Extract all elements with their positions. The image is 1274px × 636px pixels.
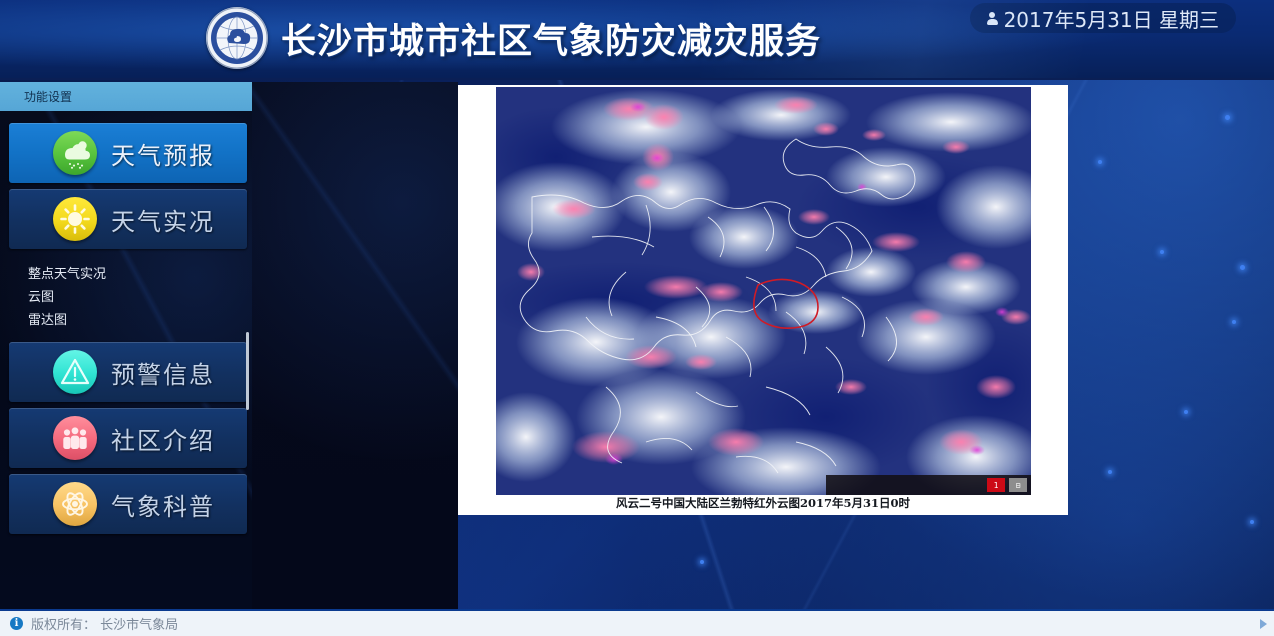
date-text: 2017年5月31日 星期三 [1004,4,1219,33]
brand: 长沙市城市社区气象防灾减灾服务 [206,7,821,69]
atom-icon [53,482,97,526]
sidebar-item-label: 天气预报 [111,136,215,171]
sidebar-nav: 天气预报 天气实况 [0,111,252,534]
sidebar-item-label: 天气实况 [111,202,215,237]
date-badge: 2017年5月31日 星期三 [970,3,1236,33]
sidebar-item-label: 气象科普 [111,487,215,522]
app-footer: i 版权所有： 长沙市气象局 [0,609,1274,636]
submenu-item-radar-map[interactable]: 雷达图 [28,309,252,332]
sidebar-panel-title: 功能设置 [0,88,72,105]
sidebar-panel-header: 功能设置 [0,82,252,111]
page-title: 长沙市城市社区气象防灾减灾服务 [281,13,821,64]
sidebar-submenu: 整点天气实况 云图 雷达图 [0,263,252,332]
image-caption: 风云二号中国大陆区兰勃特红外云图2017年5月31日0时 [458,495,1068,511]
sidebar-item-meteorology-science[interactable]: 气象科普 [9,474,247,534]
sidebar: 功能设置 天气预报 [0,82,252,609]
image-card: 1 ⊟ 风云二号中国大陆区兰勃特红外云图2017年5月31日0时 [458,85,1068,515]
info-icon: i [10,617,23,630]
sidebar-item-community-intro[interactable]: 社区介绍 [9,408,247,468]
app-root: 长沙市城市社区气象防灾减灾服务 2017年5月31日 星期三 功能设置 [0,0,1274,636]
main-content: 1 ⊟ 风云二号中国大陆区兰勃特红外云图2017年5月31日0时 [252,82,1274,609]
content-left-panel [252,82,458,609]
submenu-item-hourly-weather[interactable]: 整点天气实况 [28,263,252,286]
cma-emblem-icon [206,7,268,69]
sidebar-item-weather-forecast[interactable]: 天气预报 [9,123,247,183]
image-option-button[interactable]: ⊟ [1009,478,1027,492]
sidebar-item-warning-info[interactable]: 预警信息 [9,342,247,402]
resize-corner-icon[interactable] [1260,619,1267,629]
sun-icon [53,197,97,241]
person-icon [987,12,998,25]
people-icon [53,416,97,460]
sidebar-item-label: 预警信息 [111,355,215,390]
sidebar-item-weather-live[interactable]: 天气实况 [9,189,247,249]
submenu-scrollbar[interactable] [246,332,249,410]
fengyun-2-satellite-cloud-map[interactable]: 1 ⊟ [496,87,1031,495]
copyright-text: 版权所有： 长沙市气象局 [31,614,178,633]
cloud-sun-rain-icon [53,131,97,175]
sidebar-item-label: 社区介绍 [111,421,215,456]
app-header: 长沙市城市社区气象防灾减灾服务 2017年5月31日 星期三 [0,0,1274,80]
image-page-button-1[interactable]: 1 [987,478,1005,492]
submenu-item-cloud-map[interactable]: 云图 [28,286,252,309]
warning-triangle-icon [53,350,97,394]
